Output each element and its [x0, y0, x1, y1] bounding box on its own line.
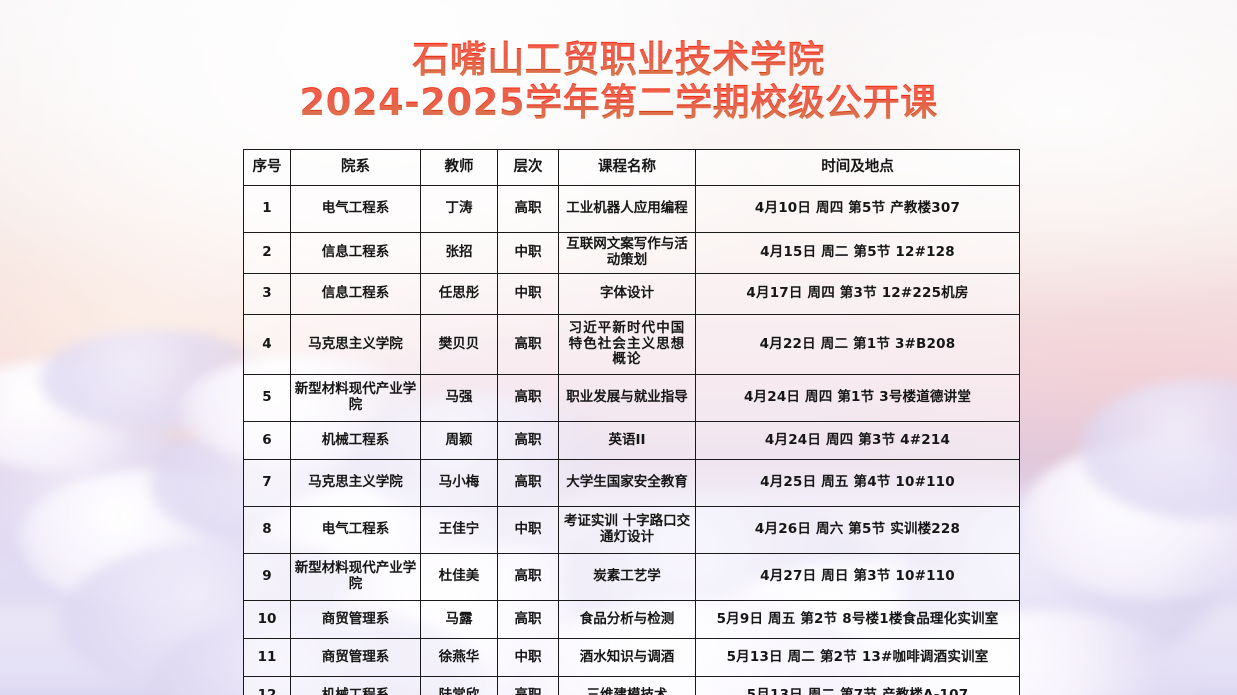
- cell-level: 高职: [498, 460, 559, 507]
- cell-department: 商贸管理系: [291, 601, 421, 639]
- cell-level: 中职: [498, 233, 559, 274]
- cell-level: 高职: [498, 315, 559, 375]
- table-header-row: 序号 院系 教师 层次 课程名称 时间及地点: [244, 150, 1020, 186]
- cell-level: 中职: [498, 274, 559, 315]
- title-line-2: 2024-2025学年第二学期校级公开课: [0, 83, 1237, 122]
- cell-level: 高职: [498, 554, 559, 601]
- cell-when-where: 4月22日 周二 第1节 3#B208: [696, 315, 1020, 375]
- cell-level: 高职: [498, 186, 559, 233]
- cell-course: 字体设计: [559, 274, 696, 315]
- table-row: 5 新型材料现代产业学院 马强 高职 职业发展与就业指导 4月24日 周四 第1…: [244, 375, 1020, 422]
- cell-teacher: 任思彤: [421, 274, 498, 315]
- table-row: 1 电气工程系 丁涛 高职 工业机器人应用编程 4月10日 周四 第5节 产教楼…: [244, 186, 1020, 233]
- cell-teacher: 马露: [421, 601, 498, 639]
- cell-when-where: 4月24日 周四 第3节 4#214: [696, 422, 1020, 460]
- cell-when-where: 4月25日 周五 第4节 10#110: [696, 460, 1020, 507]
- cell-course: 考证实训 十字路口交通灯设计: [559, 507, 696, 554]
- cell-course: 炭素工艺学: [559, 554, 696, 601]
- slide-canvas: 石嘴山工贸职业技术学院 2024-2025学年第二学期校级公开课 序号 院系 教…: [0, 0, 1237, 695]
- cell-course: 英语II: [559, 422, 696, 460]
- cell-when-where: 4月15日 周二 第5节 12#128: [696, 233, 1020, 274]
- cell-course: 工业机器人应用编程: [559, 186, 696, 233]
- table-row: 10 商贸管理系 马露 高职 食品分析与检测 5月9日 周五 第2节 8号楼1楼…: [244, 601, 1020, 639]
- cell-department: 新型材料现代产业学院: [291, 554, 421, 601]
- table-row: 4 马克思主义学院 樊贝贝 高职 习近平新时代中国特色社会主义思想概论 4月22…: [244, 315, 1020, 375]
- header-department: 院系: [291, 150, 421, 186]
- cell-course: 互联网文案写作与活动策划: [559, 233, 696, 274]
- header-level: 层次: [498, 150, 559, 186]
- cell-department: 电气工程系: [291, 186, 421, 233]
- table-row: 2 信息工程系 张招 中职 互联网文案写作与活动策划 4月15日 周二 第5节 …: [244, 233, 1020, 274]
- cell-department: 机械工程系: [291, 422, 421, 460]
- cell-course: 酒水知识与调酒: [559, 639, 696, 677]
- table-row: 8 电气工程系 王佳宁 中职 考证实训 十字路口交通灯设计 4月26日 周六 第…: [244, 507, 1020, 554]
- cell-when-where: 4月17日 周四 第3节 12#225机房: [696, 274, 1020, 315]
- table-row: 9 新型材料现代产业学院 杜佳美 高职 炭素工艺学 4月27日 周日 第3节 1…: [244, 554, 1020, 601]
- cell-course: 大学生国家安全教育: [559, 460, 696, 507]
- cell-index: 4: [244, 315, 291, 375]
- table-row: 3 信息工程系 任思彤 中职 字体设计 4月17日 周四 第3节 12#225机…: [244, 274, 1020, 315]
- cell-level: 中职: [498, 639, 559, 677]
- cell-index: 7: [244, 460, 291, 507]
- cell-teacher: 马强: [421, 375, 498, 422]
- header-when-where: 时间及地点: [696, 150, 1020, 186]
- title-line-1: 石嘴山工贸职业技术学院: [0, 40, 1237, 79]
- cell-teacher: 徐燕华: [421, 639, 498, 677]
- cell-teacher: 杜佳美: [421, 554, 498, 601]
- cell-when-where: 5月13日 周二 第7节 产教楼A-107: [696, 677, 1020, 695]
- cell-department: 马克思主义学院: [291, 460, 421, 507]
- cell-department: 新型材料现代产业学院: [291, 375, 421, 422]
- header-index: 序号: [244, 150, 291, 186]
- cell-teacher: 陆常欣: [421, 677, 498, 695]
- cell-teacher: 丁涛: [421, 186, 498, 233]
- cell-index: 6: [244, 422, 291, 460]
- cell-teacher: 周颖: [421, 422, 498, 460]
- cell-index: 1: [244, 186, 291, 233]
- schedule-table: 序号 院系 教师 层次 课程名称 时间及地点 1 电气工程系 丁涛 高职 工业机…: [243, 149, 1020, 695]
- cell-course: 习近平新时代中国特色社会主义思想概论: [559, 315, 696, 375]
- header-course: 课程名称: [559, 150, 696, 186]
- page-title: 石嘴山工贸职业技术学院 2024-2025学年第二学期校级公开课: [0, 40, 1237, 122]
- cell-teacher: 马小梅: [421, 460, 498, 507]
- cell-level: 高职: [498, 677, 559, 695]
- cell-teacher: 樊贝贝: [421, 315, 498, 375]
- cell-course: 三维建模技术: [559, 677, 696, 695]
- table-row: 7 马克思主义学院 马小梅 高职 大学生国家安全教育 4月25日 周五 第4节 …: [244, 460, 1020, 507]
- cell-teacher: 王佳宁: [421, 507, 498, 554]
- cell-teacher: 张招: [421, 233, 498, 274]
- cell-level: 中职: [498, 507, 559, 554]
- cell-level: 高职: [498, 375, 559, 422]
- table-row: 11 商贸管理系 徐燕华 中职 酒水知识与调酒 5月13日 周二 第2节 13#…: [244, 639, 1020, 677]
- header-teacher: 教师: [421, 150, 498, 186]
- cell-index: 5: [244, 375, 291, 422]
- cell-department: 信息工程系: [291, 233, 421, 274]
- cell-index: 2: [244, 233, 291, 274]
- cell-course: 食品分析与检测: [559, 601, 696, 639]
- table-row: 6 机械工程系 周颖 高职 英语II 4月24日 周四 第3节 4#214: [244, 422, 1020, 460]
- cell-department: 马克思主义学院: [291, 315, 421, 375]
- cell-level: 高职: [498, 601, 559, 639]
- cell-index: 12: [244, 677, 291, 695]
- cell-level: 高职: [498, 422, 559, 460]
- cell-department: 电气工程系: [291, 507, 421, 554]
- table-row: 12 机械工程系 陆常欣 高职 三维建模技术 5月13日 周二 第7节 产教楼A…: [244, 677, 1020, 695]
- cell-when-where: 4月24日 周四 第1节 3号楼道德讲堂: [696, 375, 1020, 422]
- cell-index: 10: [244, 601, 291, 639]
- cell-index: 3: [244, 274, 291, 315]
- schedule-table-container: 序号 院系 教师 层次 课程名称 时间及地点 1 电气工程系 丁涛 高职 工业机…: [243, 149, 1019, 695]
- cell-when-where: 4月26日 周六 第5节 实训楼228: [696, 507, 1020, 554]
- cell-department: 商贸管理系: [291, 639, 421, 677]
- cell-when-where: 5月13日 周二 第2节 13#咖啡调酒实训室: [696, 639, 1020, 677]
- cell-when-where: 4月10日 周四 第5节 产教楼307: [696, 186, 1020, 233]
- cell-department: 信息工程系: [291, 274, 421, 315]
- cell-index: 9: [244, 554, 291, 601]
- cell-department: 机械工程系: [291, 677, 421, 695]
- cell-course: 职业发展与就业指导: [559, 375, 696, 422]
- cell-when-where: 5月9日 周五 第2节 8号楼1楼食品理化实训室: [696, 601, 1020, 639]
- cell-index: 8: [244, 507, 291, 554]
- cell-when-where: 4月27日 周日 第3节 10#110: [696, 554, 1020, 601]
- cell-index: 11: [244, 639, 291, 677]
